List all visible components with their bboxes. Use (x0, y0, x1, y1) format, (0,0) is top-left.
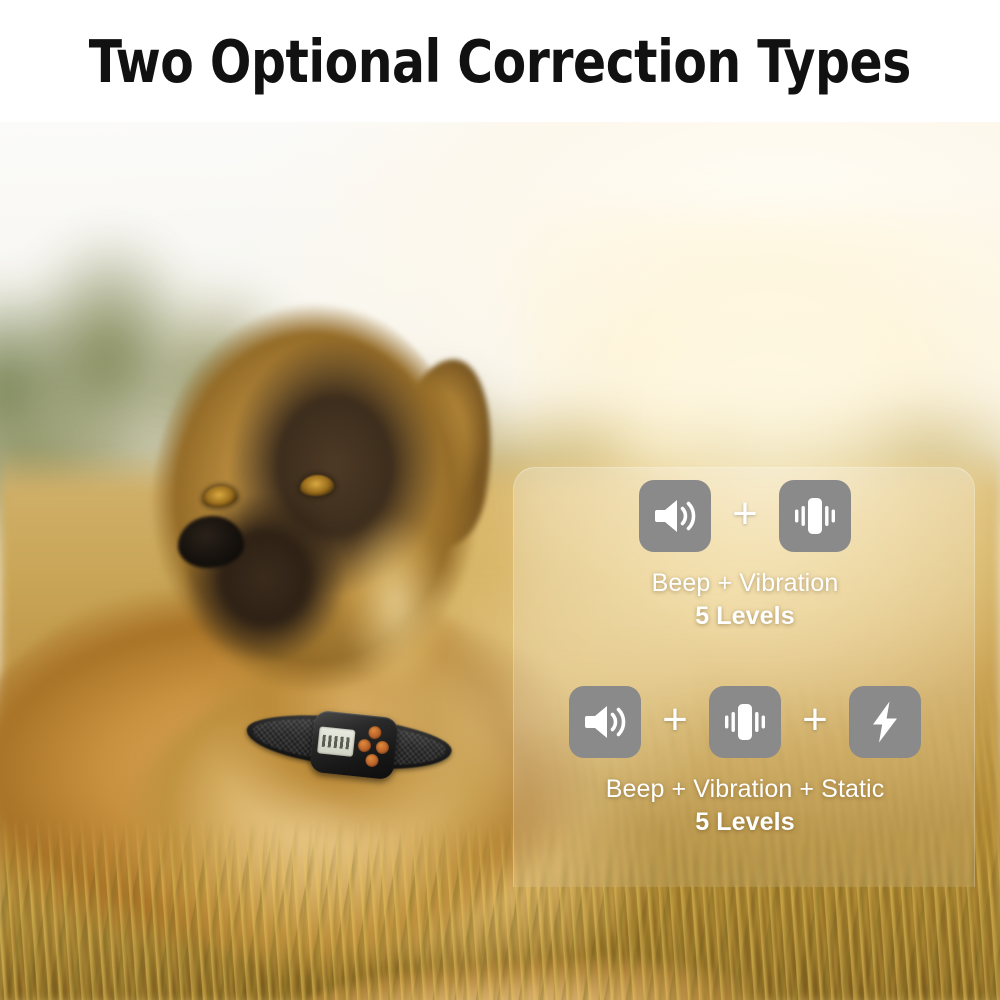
speaker-icon-tile[interactable] (569, 686, 641, 758)
device-button-left (357, 738, 371, 752)
mode-icon-row: + (514, 480, 976, 552)
plus-separator: + (658, 698, 692, 742)
page-title: Two Optional Correction Types (89, 27, 911, 96)
dog-nose (178, 516, 244, 568)
speaker-icon (583, 702, 627, 742)
device-button-down (365, 753, 379, 767)
mode-caption: Beep + Vibration (514, 568, 976, 599)
lightning-bolt-icon (869, 700, 901, 744)
mode-levels: 5 Levels (514, 601, 976, 632)
device-lcd-screen (317, 726, 356, 757)
vibration-icon (722, 701, 768, 743)
speaker-icon-tile[interactable] (639, 480, 711, 552)
title-bar: Two Optional Correction Types (0, 0, 1000, 122)
mode-block-beep-vibration: + Beep + Vibration (514, 480, 976, 631)
plus-separator: + (798, 698, 832, 742)
correction-modes-panel: + Beep + Vibration (513, 467, 975, 887)
dog-rim-highlight (330, 498, 460, 708)
lightning-bolt-icon-tile[interactable] (849, 686, 921, 758)
mode-icon-row: + + (514, 686, 976, 758)
collar-device (309, 710, 399, 780)
vibration-icon-tile[interactable] (709, 686, 781, 758)
mode-caption: Beep + Vibration + Static (514, 774, 976, 805)
device-button-right (375, 740, 389, 754)
product-feature-image: + Beep + Vibration (0, 0, 1000, 1000)
device-button-up (368, 725, 382, 739)
speaker-icon (653, 496, 697, 536)
plus-separator: + (728, 492, 762, 536)
mode-levels: 5 Levels (514, 807, 976, 838)
mode-block-beep-vibration-static: + + (514, 686, 976, 837)
vibration-icon-tile[interactable] (779, 480, 851, 552)
vibration-icon (792, 495, 838, 537)
background-photo: + Beep + Vibration (0, 118, 1000, 1000)
